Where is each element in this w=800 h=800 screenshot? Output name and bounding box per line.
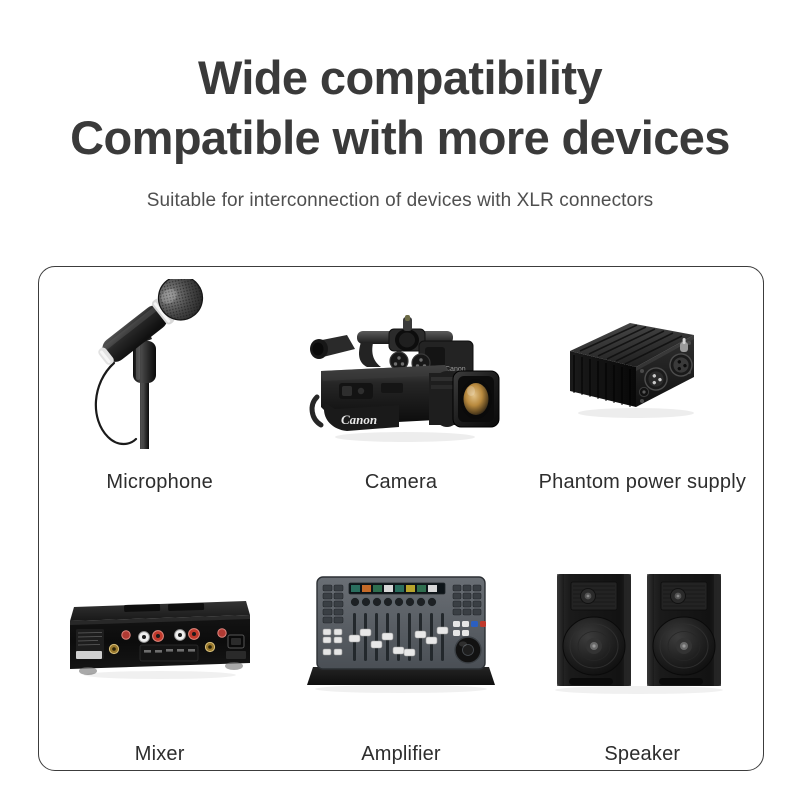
product-feature-page: Wide compatibility Compatible with more … [0,0,800,800]
device-label: Speaker [604,743,680,766]
device-label: Mixer [135,743,185,766]
device-cell-amplifier: Amplifier [280,519,521,771]
device-cell-microphone: Microphone [39,267,280,519]
headline-line-2: Compatible with more devices [0,108,800,168]
header: Wide compatibility Compatible with more … [0,48,800,212]
device-cell-phantom-power-supply: Phantom power supply [522,267,763,519]
device-label: Microphone [106,471,213,494]
device-label: Amplifier [361,743,441,766]
device-cell-mixer: Mixer [39,519,280,771]
device-grid: Microphone [39,267,763,770]
svg-text:Canon: Canon [341,412,377,427]
headline-line-1: Wide compatibility [0,48,800,108]
microphone-on-stand-icon [39,279,280,451]
device-cell-speaker: Speaker [522,519,763,771]
device-grid-row: Microphone [39,267,763,519]
mixer-rear-panel-icon [39,545,280,717]
phantom-power-supply-icon [522,279,763,451]
device-cell-camera: Canon [280,267,521,519]
speaker-pair-icon [522,545,763,717]
subtitle: Suitable for interconnection of devices … [0,190,800,212]
device-grid-row: Mixer [39,519,763,771]
device-compatibility-panel: Microphone [38,266,764,771]
device-label: Camera [365,471,437,494]
device-label: Phantom power supply [539,471,746,494]
fader-control-surface-icon [280,545,521,717]
camcorder-icon: Canon [280,279,521,451]
